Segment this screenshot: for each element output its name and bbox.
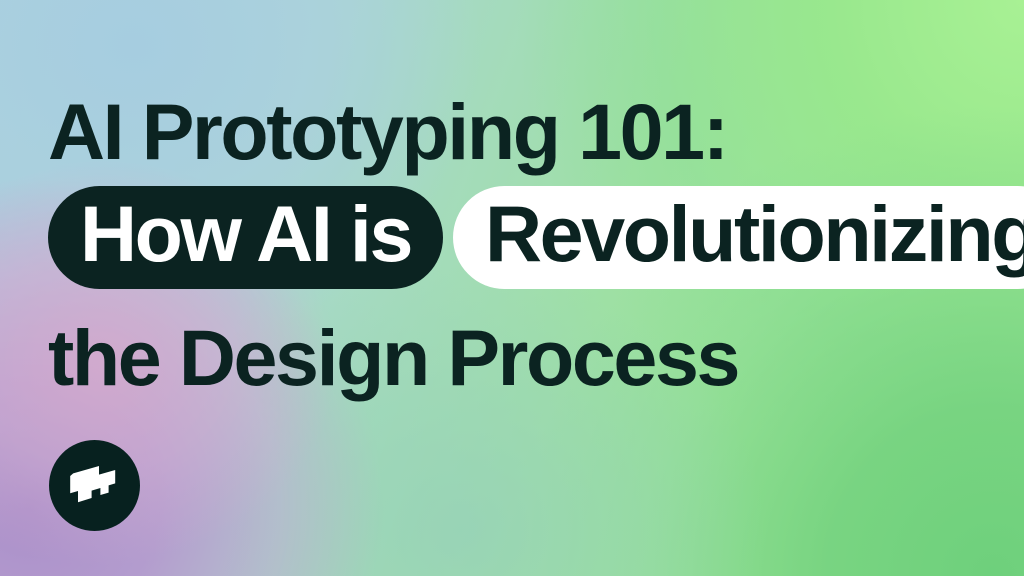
- title-card: AI Prototyping 101: How AI is Revolution…: [0, 0, 1024, 576]
- headline-pill-light: Revolutionizing: [453, 186, 1024, 289]
- headline-pill-dark: How AI is: [48, 186, 443, 289]
- headline-pill-dark-label: How AI is: [80, 194, 411, 273]
- lightning-flag-icon: [69, 464, 121, 508]
- headline-line-one: AI Prototyping 101:: [48, 92, 727, 171]
- brand-logo: [49, 440, 140, 531]
- headline-line-three: the Design Process: [48, 318, 738, 397]
- headline-line-two: How AI is Revolutionizing: [48, 186, 1024, 289]
- headline-pill-light-label: Revolutionizing: [485, 194, 1024, 273]
